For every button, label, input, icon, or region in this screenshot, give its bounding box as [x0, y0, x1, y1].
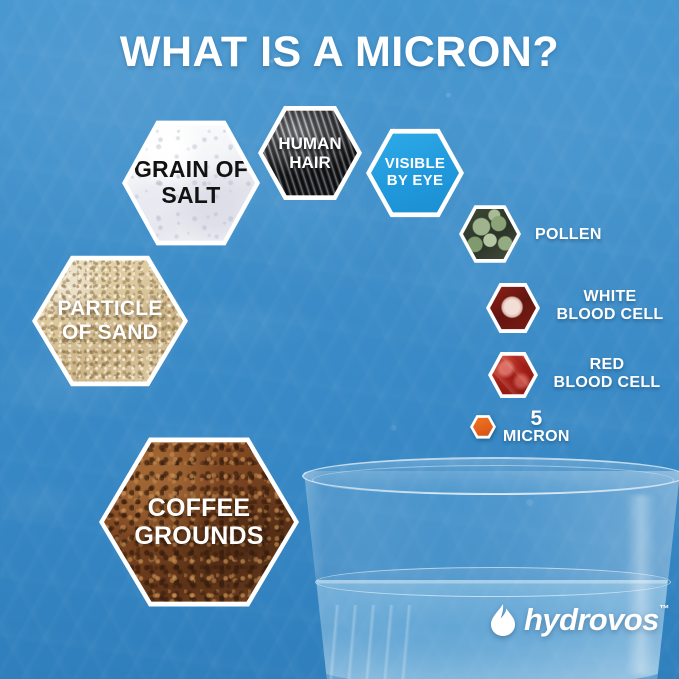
label-line: BLOOD CELL [556, 306, 664, 324]
white-blood-cell-texture [490, 286, 536, 330]
hexagon-coffee-grounds-label: COFFEE GROUNDS [134, 494, 263, 550]
label-line: SALT [134, 183, 248, 209]
pollen-texture [463, 208, 517, 260]
label-line: GROUNDS [134, 522, 263, 550]
glass-waterline [315, 567, 671, 597]
water-droplet-icon [490, 603, 516, 637]
hexagon-particle-of-sand-label: PARTICLE OF SAND [57, 297, 162, 344]
micron-marker: 5 MICRON [470, 408, 570, 446]
label-line: WHITE [556, 288, 664, 306]
micron-hexagon-icon [470, 414, 496, 439]
hexagon-grain-of-salt-label: GRAIN OF SALT [134, 157, 248, 209]
hexagon-visible-by-eye-fill: VISIBLE BY EYE [371, 132, 459, 214]
side-label-white-blood-cell: WHITE BLOOD CELL [556, 288, 664, 324]
label-line: HAIR [278, 153, 341, 172]
side-label-red-blood-cell: RED BLOOD CELL [552, 356, 662, 392]
label-line: OF SAND [57, 321, 162, 345]
page-title: WHAT IS A MICRON? [0, 28, 679, 77]
hexagon-human-hair-label: HUMAN HAIR [278, 134, 341, 172]
micron-marker-text: 5 MICRON [503, 408, 570, 446]
hexagon-visible-by-eye-label: VISIBLE BY EYE [385, 156, 445, 190]
brand-wordmark-text: hydrovos [524, 602, 659, 637]
label-line: VISIBLE [385, 156, 445, 173]
label-line: HUMAN [278, 134, 341, 153]
trademark-symbol: ™ [659, 604, 668, 615]
hexagon-red-blood-cell-image [492, 355, 534, 395]
glass-rim-inner [312, 465, 674, 495]
hexagon-human-hair-image: HUMAN HAIR [263, 109, 357, 197]
label-line: COFFEE [134, 494, 263, 522]
label-line: PARTICLE [57, 297, 162, 321]
glass-flutes [318, 605, 418, 679]
hexagon-pollen-image [463, 208, 517, 260]
label-line: BLOOD CELL [552, 374, 662, 392]
micron-unit: MICRON [503, 429, 570, 445]
label-line: POLLEN [535, 226, 602, 244]
label-line: RED [552, 356, 662, 374]
label-line: GRAIN OF [134, 157, 248, 183]
brand-logo[interactable]: hydrovos ™ [490, 602, 659, 638]
glass-of-water [296, 455, 679, 679]
infographic-canvas: WHAT IS A MICRON? GRAIN OF SALT HUMAN HA… [0, 0, 679, 679]
brand-wordmark: hydrovos ™ [524, 602, 659, 638]
label-line: BY EYE [385, 173, 445, 190]
micron-number: 5 [503, 408, 570, 429]
red-blood-cell-texture [492, 355, 534, 395]
hexagon-grain-of-salt-image: GRAIN OF SALT [127, 123, 255, 243]
hexagon-particle-of-sand-image: PARTICLE OF SAND [37, 258, 183, 384]
side-label-pollen: POLLEN [535, 226, 602, 244]
hexagon-white-blood-cell-image [490, 286, 536, 330]
